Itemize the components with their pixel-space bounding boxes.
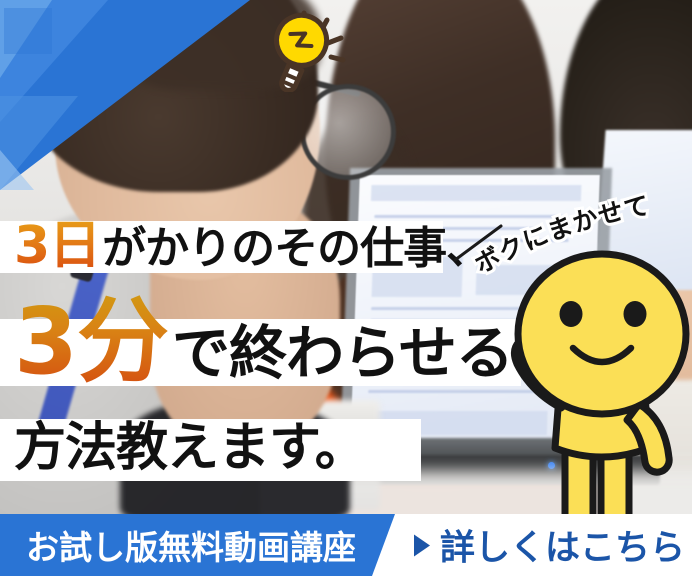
cta-link-label: 詳しくはこちら	[440, 520, 685, 571]
headline-line-2: 3分で終わらせる	[14, 300, 513, 395]
headline-highlight-3minutes: 3分	[14, 288, 172, 395]
cta-badge[interactable]: お試し版無料動画講座	[0, 514, 395, 576]
cta-bar[interactable]: お試し版無料動画講座 詳しくはこちら	[0, 514, 692, 576]
mascot-character	[489, 236, 692, 546]
blue-corner-graphic	[0, 0, 250, 190]
cta-link[interactable]: 詳しくはこちら	[414, 520, 685, 571]
headline-line-3: 方法教えます。	[14, 416, 366, 480]
headline-line-1: 3日がかりのその仕事、	[14, 218, 489, 277]
lightbulb-icon	[255, 4, 367, 92]
headline-line-3-text: 方法教えます。	[14, 418, 366, 478]
headline-line-1-rest: がかりのその仕事、	[102, 223, 489, 274]
play-triangle-icon	[414, 534, 430, 556]
advertisement-banner: 3日がかりのその仕事、 3分で終わらせる 方法教えます。 ボクにまかせて	[0, 0, 692, 576]
headline-highlight-3days: 3日	[14, 216, 102, 276]
headline-line-2-rest: で終わらせる	[172, 319, 513, 387]
cta-badge-label: お試し版無料動画講座	[26, 521, 356, 569]
